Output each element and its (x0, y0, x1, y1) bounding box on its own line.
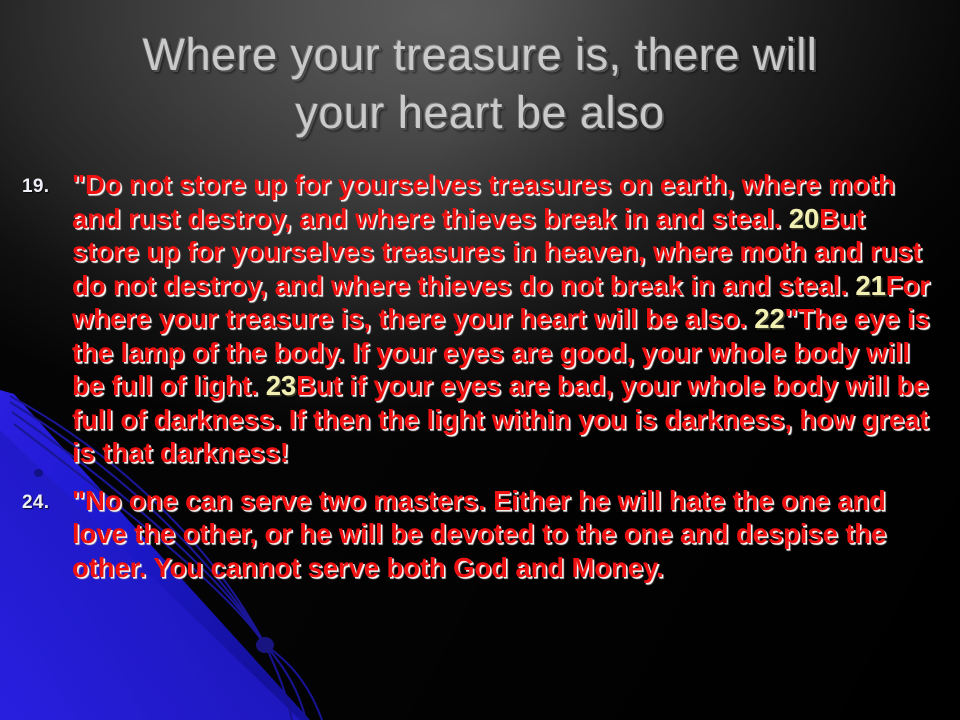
list-item-number: 24. (22, 492, 68, 514)
bullet-point-icon (34, 469, 43, 477)
verse-number-22: 22 (754, 303, 784, 334)
verse-paragraph: "Do not store up for yourselves treasure… (72, 168, 934, 470)
verse-number-23: 23 (266, 370, 296, 401)
list-item-number: 19. (22, 176, 68, 198)
slide-canvas: Where your treasure is, there will your … (0, 0, 960, 720)
verse-number-21: 21 (855, 270, 885, 301)
list-item: 24. "No one can serve two masters. Eithe… (0, 484, 960, 585)
verse-segment: "No one can serve two masters. Either he… (72, 485, 886, 583)
verse-number-20: 20 (789, 203, 819, 234)
verse-paragraph: "No one can serve two masters. Either he… (72, 484, 934, 585)
list-item: 19. "Do not store up for yourselves trea… (0, 168, 960, 470)
page-title: Where your treasure is, there will your … (40, 26, 920, 141)
verse-segment: "Do not store up for yourselves treasure… (72, 169, 895, 234)
verse-list: 19. "Do not store up for yourselves trea… (0, 168, 960, 598)
